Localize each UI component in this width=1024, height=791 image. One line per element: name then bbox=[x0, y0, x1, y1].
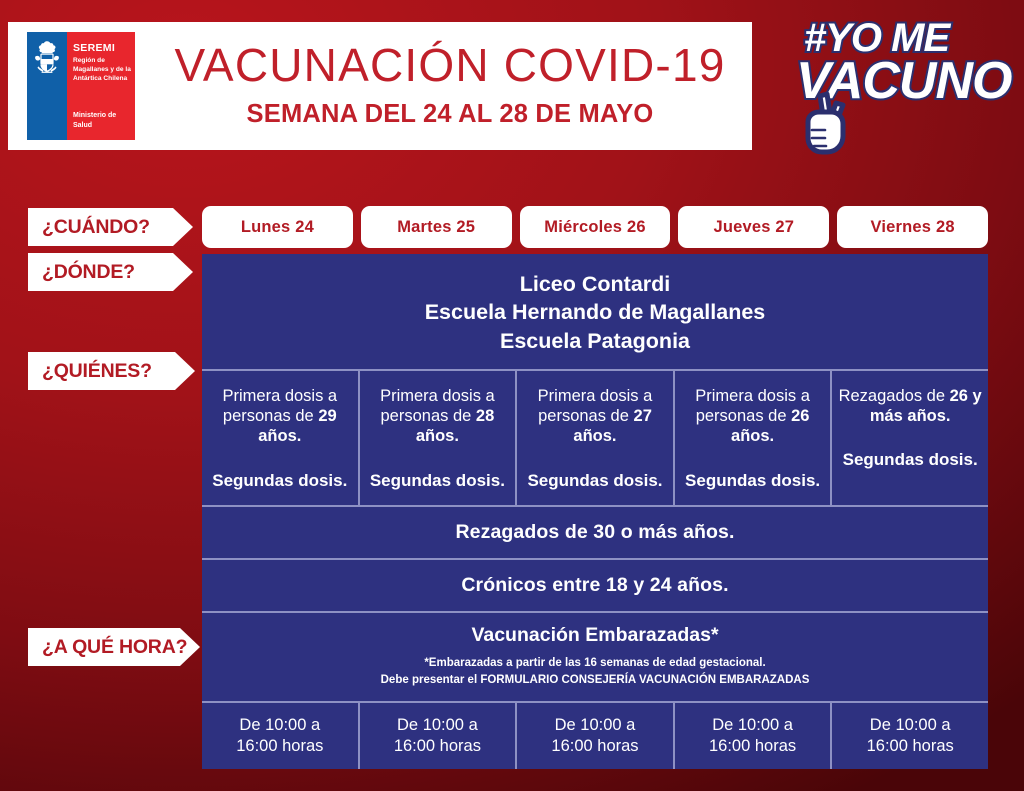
hours-row: De 10:00 a 16:00 horas De 10:00 a 16:00 … bbox=[202, 703, 988, 769]
hours-line-1: De 10:00 a bbox=[523, 715, 667, 736]
venue-line-1: Liceo Contardi bbox=[210, 270, 980, 298]
campaign-logo: #YO ME VACUNO bbox=[790, 18, 1010, 164]
poster-root: SEREMI Región de Magallanes y de la Antá… bbox=[0, 0, 1024, 791]
embarazadas-note-1: *Embarazadas a partir de las 16 semanas … bbox=[210, 655, 980, 672]
hours-cell-friday: De 10:00 a 16:00 horas bbox=[832, 703, 988, 769]
who-cell-thursday: Primera dosis a personas de 26 años. Seg… bbox=[675, 371, 831, 504]
venue-line-3: Escuela Patagonia bbox=[210, 327, 980, 355]
header-title-block: VACUNACIÓN COVID-19 SEMANA DEL 24 AL 28 … bbox=[158, 42, 742, 128]
logo-blue-panel bbox=[27, 32, 67, 140]
hours-line-2: 16:00 horas bbox=[366, 736, 510, 757]
hours-line-2: 16:00 horas bbox=[208, 736, 352, 757]
who-second-dose: Segundas dosis. bbox=[208, 471, 352, 491]
hours-line-1: De 10:00 a bbox=[681, 715, 825, 736]
label-what-time: ¿A QUÉ HORA? bbox=[28, 628, 200, 666]
who-cell-top: Primera dosis a personas de 26 años. bbox=[681, 386, 825, 446]
hours-line-1: De 10:00 a bbox=[366, 715, 510, 736]
label-who: ¿QUIÉNES? bbox=[28, 352, 195, 390]
who-second-dose: Segundas dosis. bbox=[366, 471, 510, 491]
who-cell-monday: Primera dosis a personas de 29 años. Seg… bbox=[202, 371, 358, 504]
header-band: SEREMI Región de Magallanes y de la Antá… bbox=[8, 22, 752, 150]
who-row: Primera dosis a personas de 29 años. Seg… bbox=[202, 371, 988, 504]
who-cell-tuesday: Primera dosis a personas de 28 años. Seg… bbox=[360, 371, 516, 504]
who-cell-friday: Rezagados de 26 y más años. Segundas dos… bbox=[832, 371, 988, 504]
logo-region-text: Región de Magallanes y de la Antártica C… bbox=[73, 56, 133, 83]
ministry-logo: SEREMI Región de Magallanes y de la Antá… bbox=[27, 32, 135, 140]
hours-line-1: De 10:00 a bbox=[208, 715, 352, 736]
band-rezagados: Rezagados de 30 o más años. bbox=[202, 507, 988, 558]
hours-cell-thursday: De 10:00 a 16:00 horas bbox=[675, 703, 831, 769]
hours-cell-tuesday: De 10:00 a 16:00 horas bbox=[360, 703, 516, 769]
venue-line-2: Escuela Hernando de Magallanes bbox=[210, 298, 980, 326]
band-embarazadas: Vacunación Embarazadas* *Embarazadas a p… bbox=[202, 613, 988, 702]
who-plain-text: Rezagados de bbox=[839, 387, 945, 405]
logo-ministry-text: Ministerio de Salud bbox=[73, 111, 133, 130]
hours-line-2: 16:00 horas bbox=[523, 736, 667, 757]
embarazadas-note-2: Debe presentar el FORMULARIO CONSEJERÍA … bbox=[210, 672, 980, 689]
logo-red-panel: SEREMI Región de Magallanes y de la Antá… bbox=[67, 32, 135, 140]
hours-cell-monday: De 10:00 a 16:00 horas bbox=[202, 703, 358, 769]
chile-coat-of-arms-icon bbox=[32, 40, 62, 74]
who-second-dose: Segundas dosis. bbox=[838, 450, 982, 470]
logo-seremi-text: SEREMI bbox=[73, 42, 115, 54]
day-chip-thursday[interactable]: Jueves 27 bbox=[678, 206, 829, 248]
hours-line-2: 16:00 horas bbox=[681, 736, 825, 757]
embarazadas-title: Vacunación Embarazadas* bbox=[210, 624, 980, 647]
day-header-row: Lunes 24 Martes 25 Miércoles 26 Jueves 2… bbox=[202, 206, 988, 248]
who-cell-top: Primera dosis a personas de 29 años. bbox=[208, 386, 352, 446]
who-cell-top: Primera dosis a personas de 27 años. bbox=[523, 386, 667, 446]
who-cell-top: Primera dosis a personas de 28 años. bbox=[366, 386, 510, 446]
hours-line-2: 16:00 horas bbox=[838, 736, 982, 757]
day-chip-wednesday[interactable]: Miércoles 26 bbox=[520, 206, 671, 248]
hours-cell-wednesday: De 10:00 a 16:00 horas bbox=[517, 703, 673, 769]
day-chip-tuesday[interactable]: Martes 25 bbox=[361, 206, 512, 248]
who-cell-top: Rezagados de 26 y más años. bbox=[838, 386, 982, 426]
schedule-table: Lunes 24 Martes 25 Miércoles 26 Jueves 2… bbox=[202, 206, 988, 769]
schedule-body: Liceo Contardi Escuela Hernando de Magal… bbox=[202, 254, 988, 769]
day-chip-monday[interactable]: Lunes 24 bbox=[202, 206, 353, 248]
venues-row: Liceo Contardi Escuela Hernando de Magal… bbox=[202, 254, 988, 369]
raised-fist-v-sign-icon bbox=[790, 90, 864, 164]
label-when: ¿CUÁNDO? bbox=[28, 208, 193, 246]
who-second-dose: Segundas dosis. bbox=[681, 471, 825, 491]
page-subtitle: SEMANA DEL 24 AL 28 DE MAYO bbox=[158, 102, 742, 128]
label-where: ¿DÓNDE? bbox=[28, 253, 193, 291]
band-cronicos: Crónicos entre 18 y 24 años. bbox=[202, 560, 988, 611]
who-second-dose: Segundas dosis. bbox=[523, 471, 667, 491]
hours-line-1: De 10:00 a bbox=[838, 715, 982, 736]
page-title: VACUNACIÓN COVID-19 bbox=[158, 42, 742, 88]
who-cell-wednesday: Primera dosis a personas de 27 años. Seg… bbox=[517, 371, 673, 504]
day-chip-friday[interactable]: Viernes 28 bbox=[837, 206, 988, 248]
